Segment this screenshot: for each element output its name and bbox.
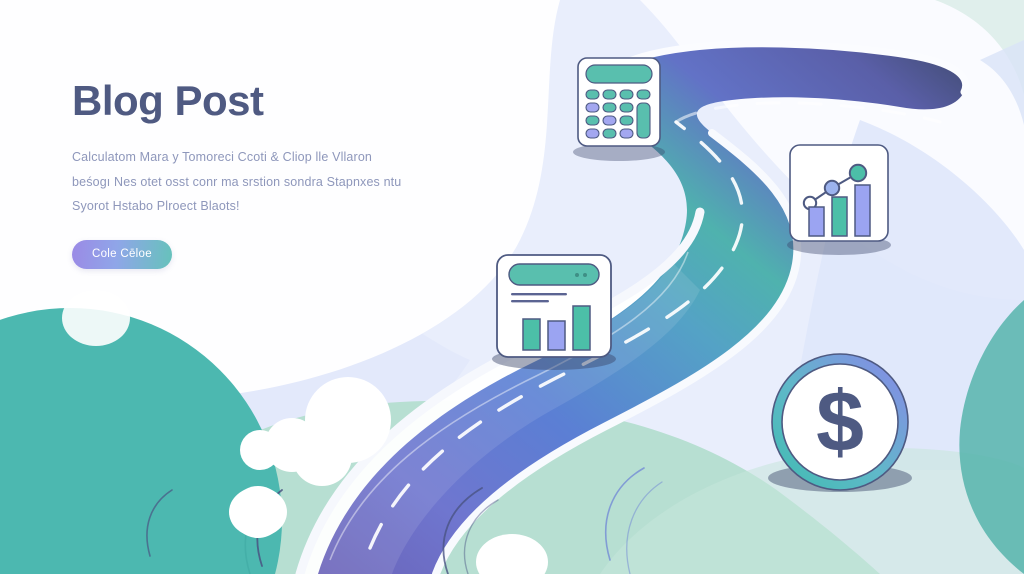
illustration-canvas: $ Blog Post Calculatom Mara y Tomoreci C… bbox=[0, 0, 1024, 574]
report-card bbox=[492, 255, 616, 370]
calculator-card bbox=[573, 58, 665, 161]
svg-text:$: $ bbox=[816, 374, 864, 470]
page-title: Blog Post bbox=[72, 78, 412, 123]
cta-button[interactable]: Cole Cēloe bbox=[72, 240, 172, 269]
hero-content: Blog Post Calculatom Mara y Tomoreci Cco… bbox=[72, 78, 412, 269]
chart-line-card bbox=[787, 145, 891, 255]
hero-subtitle: Calculatom Mara y Tomoreci Ccoti & Cliop… bbox=[72, 145, 402, 218]
